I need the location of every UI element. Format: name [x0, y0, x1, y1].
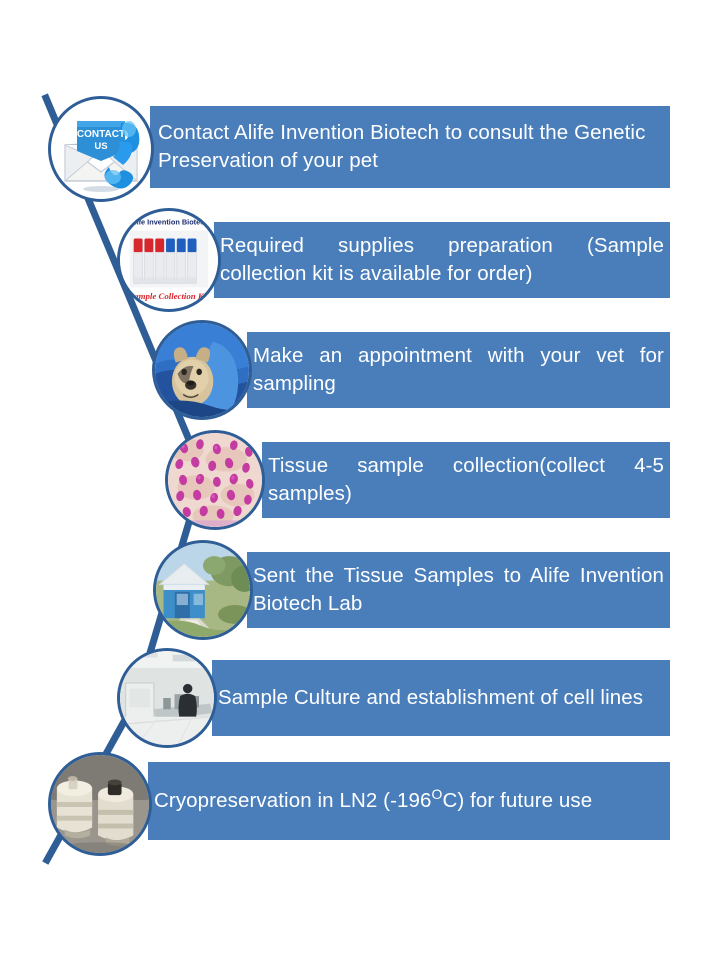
svg-text:US: US: [94, 141, 107, 152]
step-7-label: Cryopreservation in LN2 (-196OC) for fut…: [154, 787, 664, 815]
step-3-bar: Make an appointment with your vet for sa…: [247, 332, 670, 408]
step-1-label: Contact Alife Invention Biotech to consu…: [158, 119, 662, 176]
step-5-icon-lab-building-exterior-icon: [153, 540, 253, 640]
step-1-bar: Contact Alife Invention Biotech to consu…: [150, 106, 670, 188]
step-7-text-prefix: Cryopreservation in LN2 (-196: [154, 789, 432, 812]
step-4-label: Tissue sample collection(collect 4-5 sam…: [268, 452, 664, 509]
svg-text:CONTACT: CONTACT: [77, 129, 125, 140]
svg-text:Alife Invention Biotech: Alife Invention Biotech: [129, 218, 209, 227]
sample-collection-kit-icon: Alife Invention Biotech: [120, 211, 218, 309]
step-6-label: Sample Culture and establishment of cell…: [218, 684, 664, 712]
vet-with-dog-icon: [155, 323, 249, 417]
tissue-micrograph-icon: [168, 433, 262, 527]
contact-us-icon: CONTACT US: [51, 99, 151, 199]
step-5-bar: Sent the Tissue Samples to Alife Inventi…: [247, 552, 670, 628]
step-4-icon-tissue-micrograph-cells-icon: [165, 430, 265, 530]
process-flow-diagram: Contact Alife Invention Biotech to consu…: [0, 0, 720, 960]
laboratory-interior-icon: [120, 651, 214, 745]
step-7-superscript: O: [432, 786, 443, 802]
step-2-bar: Required supplies preparation (Sample co…: [214, 222, 670, 298]
step-2-label: Required supplies preparation (Sample co…: [220, 232, 664, 289]
step-2-icon-sample-collection-kit-tubes-icon: Alife Invention Biotech: [117, 208, 221, 312]
svg-text:Sample Collection Kit: Sample Collection Kit: [129, 291, 209, 301]
step-7-text-suffix: C) for future use: [442, 789, 592, 812]
liquid-nitrogen-tank-icon: [51, 755, 149, 853]
step-3-icon-vet-with-dog-photo-icon: [152, 320, 252, 420]
step-7-bar: Cryopreservation in LN2 (-196OC) for fut…: [148, 762, 670, 840]
step-1-icon-contact-us-envelope-phone-icon: CONTACT US: [48, 96, 154, 202]
step-3-label: Make an appointment with your vet for sa…: [253, 342, 664, 399]
step-7-icon-liquid-nitrogen-dewar-tanks-icon: [48, 752, 152, 856]
step-6-icon-laboratory-interior-icon: [117, 648, 217, 748]
step-5-label: Sent the Tissue Samples to Alife Inventi…: [253, 562, 664, 619]
step-6-bar: Sample Culture and establishment of cell…: [212, 660, 670, 736]
step-4-bar: Tissue sample collection(collect 4-5 sam…: [262, 442, 670, 518]
lab-building-icon: [156, 543, 250, 637]
